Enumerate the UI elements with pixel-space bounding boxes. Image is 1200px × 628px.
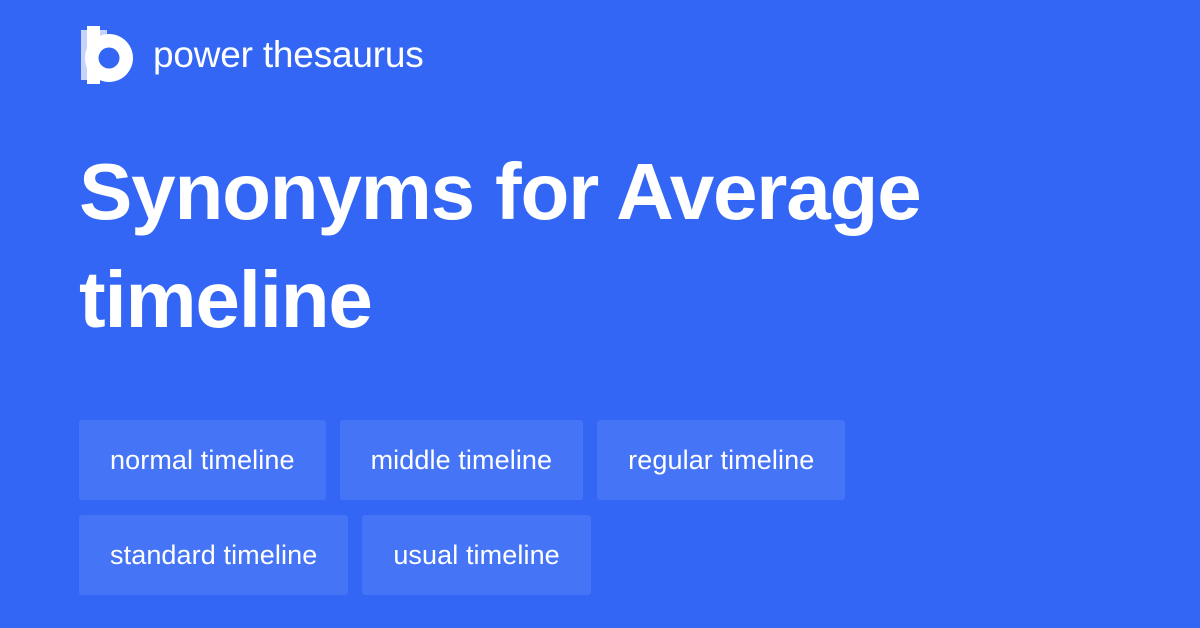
share-card: power thesaurus Synonyms for Average tim… [0,0,1200,628]
synonym-chip-label: middle timeline [371,444,553,476]
synonym-chip[interactable]: middle timeline [340,420,584,500]
power-thesaurus-b-logo-icon [79,26,135,84]
brand-name: power thesaurus [153,34,424,76]
synonym-chip-label: standard timeline [110,539,317,571]
synonym-chip-label: regular timeline [628,444,814,476]
page-title: Synonyms for Average timeline [79,138,1089,354]
synonym-chip[interactable]: usual timeline [362,515,591,595]
synonym-chip[interactable]: standard timeline [79,515,348,595]
synonym-list: normal timeline middle timeline regular … [79,420,1124,595]
synonym-chip-label: usual timeline [393,539,560,571]
synonym-chip-label: normal timeline [110,444,295,476]
page-title-prefix: Synonyms for [79,147,616,236]
brand-header[interactable]: power thesaurus [79,26,424,84]
synonym-chip[interactable]: normal timeline [79,420,326,500]
synonym-chip[interactable]: regular timeline [597,420,845,500]
